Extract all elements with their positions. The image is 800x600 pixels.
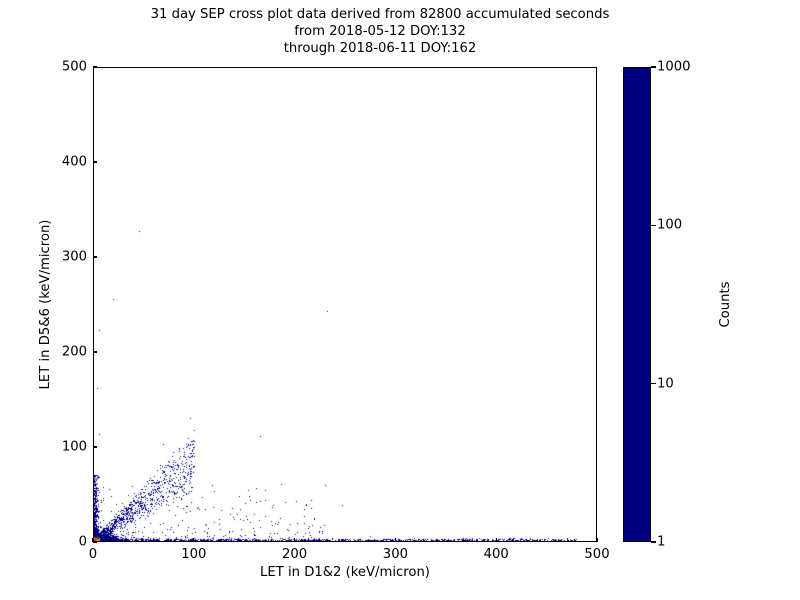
x-tick-mark	[193, 538, 194, 542]
colorbar-tick-mark	[651, 225, 656, 226]
x-tick-mark	[395, 538, 396, 542]
title-line-from: from 2018-05-12 DOY:132	[0, 23, 760, 40]
y-tick-mark	[93, 161, 97, 162]
x-tick-label: 300	[383, 547, 408, 562]
y-axis-label: LET in D5&6 (keV/micron)	[38, 67, 53, 542]
colorbar-tick-mark	[651, 383, 656, 384]
x-tick-label: 200	[282, 547, 307, 562]
y-tick-mark	[93, 66, 97, 67]
title-line-main: 31 day SEP cross plot data derived from …	[0, 6, 760, 23]
title-line-through: through 2018-06-11 DOY:162	[0, 40, 760, 57]
colorbar-tick-label: 10	[657, 376, 674, 391]
colorbar-tick-label: 1	[657, 535, 665, 550]
y-tick-mark	[93, 351, 97, 352]
x-tick-label: 0	[89, 547, 97, 562]
x-tick-label: 500	[584, 547, 609, 562]
colorbar	[623, 67, 651, 542]
x-tick-mark	[496, 538, 497, 542]
figure-canvas: 31 day SEP cross plot data derived from …	[0, 0, 800, 600]
x-tick-label: 400	[484, 547, 509, 562]
x-tick-mark	[596, 538, 597, 542]
x-axis-label: LET in D1&2 (keV/micron)	[93, 565, 597, 580]
colorbar-label: Counts	[718, 67, 733, 542]
colorbar-tick-mark	[651, 66, 656, 67]
chart-title: 31 day SEP cross plot data derived from …	[0, 6, 760, 57]
plot-area	[93, 67, 597, 542]
scatter-points-layer	[94, 68, 596, 541]
colorbar-tick-mark	[651, 541, 656, 542]
colorbar-gradient	[624, 68, 650, 541]
y-tick-mark	[93, 446, 97, 447]
colorbar-tick-label: 1000	[657, 60, 691, 75]
colorbar-tick-label: 100	[657, 218, 682, 233]
x-tick-label: 100	[181, 547, 206, 562]
x-tick-mark	[294, 538, 295, 542]
y-tick-mark	[93, 256, 97, 257]
y-tick-mark	[93, 541, 97, 542]
